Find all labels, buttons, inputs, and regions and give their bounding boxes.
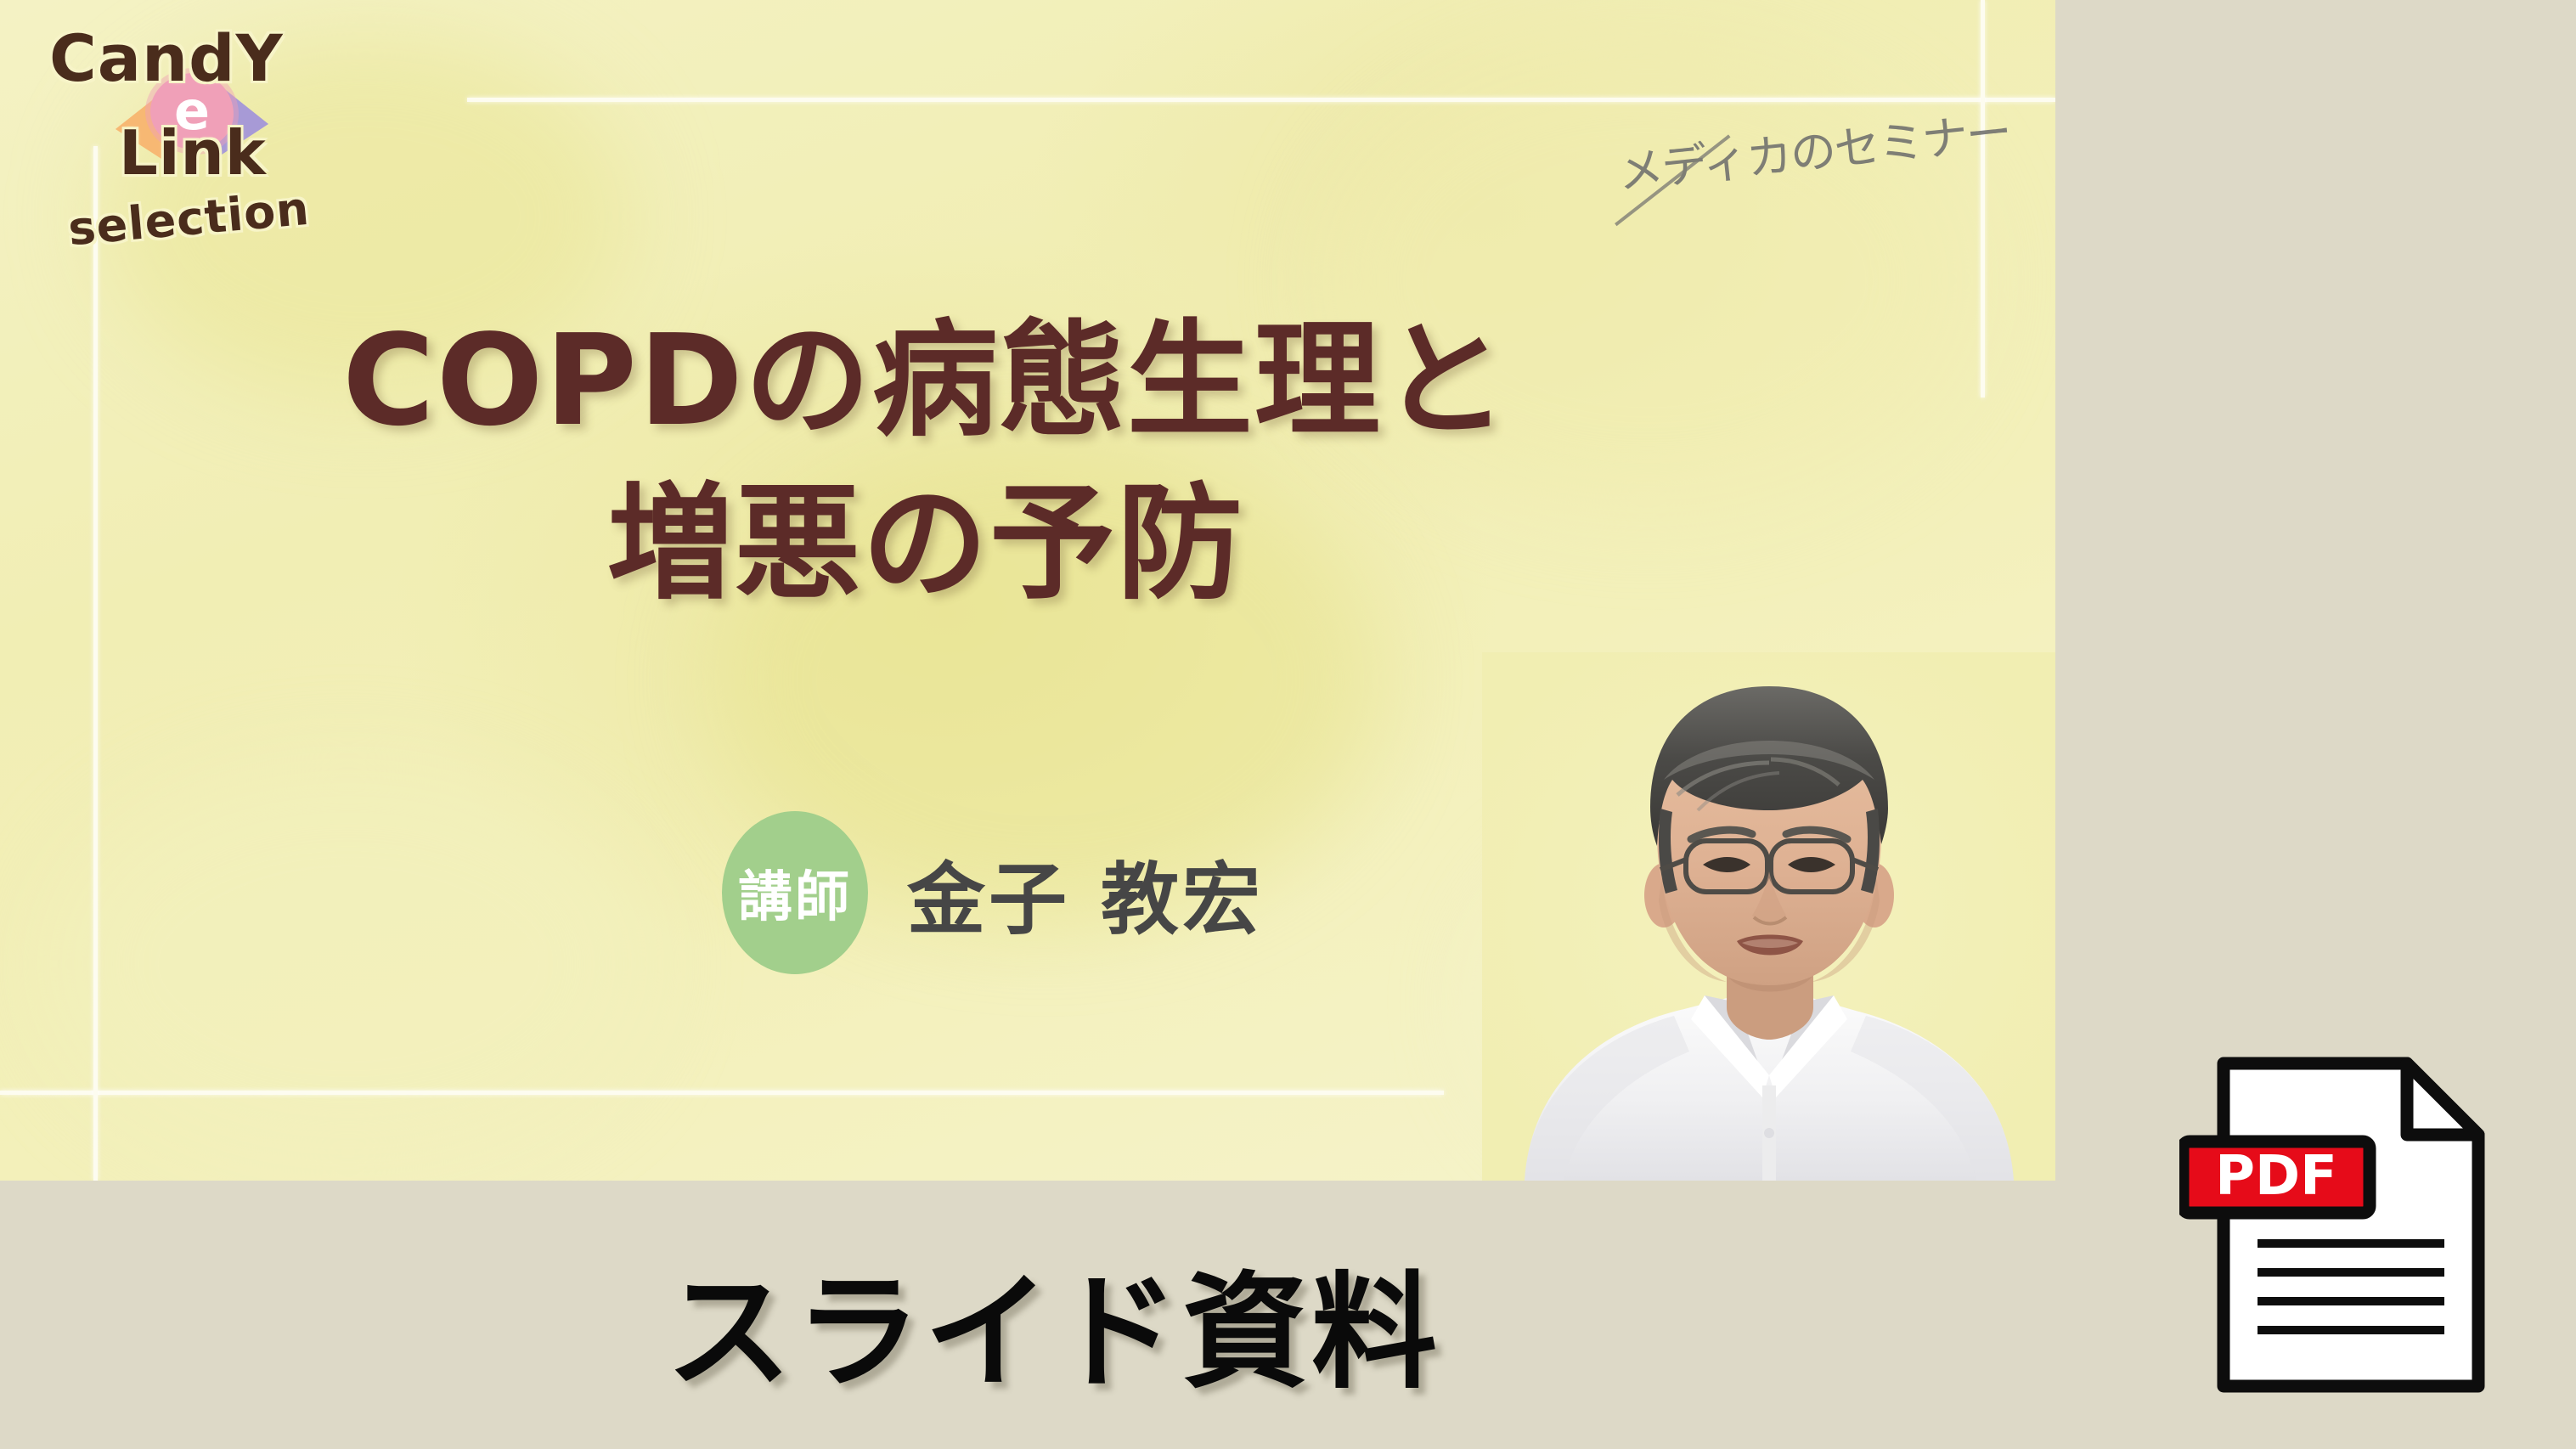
decorative-rule-right-vertical <box>1981 0 1985 397</box>
lecturer-name: 金子 教宏 <box>907 837 1264 950</box>
slide-thumbnail[interactable]: e CandY Link selection メディカのセミナー COPDの病態… <box>0 0 2055 1181</box>
logo-word-link: Link <box>119 117 267 189</box>
candy-e-link-logo: e CandY Link selection <box>49 7 338 287</box>
lecturer-row: 講師 金子 教宏 <box>722 811 1264 974</box>
logo-word-candy: CandY <box>49 20 284 96</box>
speaker-portrait <box>1482 652 2055 1181</box>
decorative-rule-top-horizontal <box>467 98 2055 102</box>
handwritten-seminar-mark: メディカのセミナー <box>1614 99 1961 228</box>
pdf-file-icon[interactable]: PDF <box>2179 1053 2502 1396</box>
decorative-rule-bottom-horizontal <box>0 1091 1444 1095</box>
caption-label: スライド資料 <box>0 1230 2106 1412</box>
slide-title-line-2: 増悪の予防 <box>0 462 1852 625</box>
lecturer-badge: 講師 <box>722 811 868 974</box>
slide-title: COPDの病態生理と 増悪の予防 <box>0 299 1852 626</box>
paper-texture-blotch <box>51 764 645 1164</box>
handwritten-seminar-text: メディカのセミナー <box>1615 105 2013 200</box>
slide-title-line-1: COPDの病態生理と <box>0 299 1852 462</box>
pdf-badge-label: PDF <box>2215 1145 2337 1208</box>
screenshot-root: e CandY Link selection メディカのセミナー COPDの病態… <box>0 0 2576 1449</box>
logo-word-selection: selection <box>66 182 312 257</box>
